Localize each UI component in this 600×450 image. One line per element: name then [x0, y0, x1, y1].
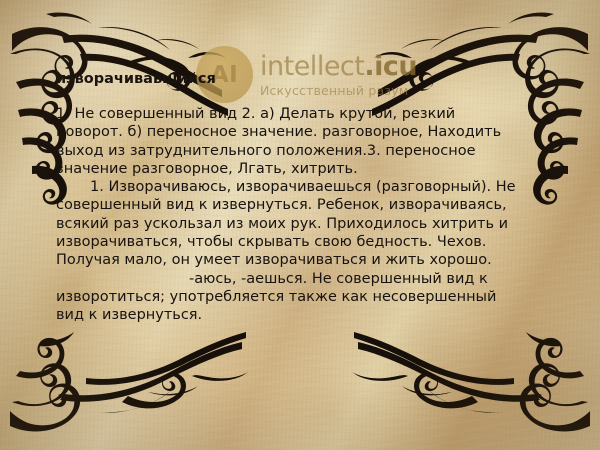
- parchment-page: AI intellect.icu Искусственный разум изв…: [0, 0, 600, 450]
- dictionary-article: изворачивавшийся 1. Не совершенный вид 2…: [56, 70, 526, 325]
- conjugation-paragraph: 1. Изворачиваюсь, изворачиваешься (разго…: [56, 178, 526, 269]
- headword: изворачивавшийся: [56, 70, 526, 88]
- corner-flourish-bottom-right-icon: [348, 326, 598, 446]
- forms-paragraph: -аюсь, -аешься. Не совершенный вид к изв…: [56, 270, 526, 325]
- corner-flourish-bottom-left-icon: [2, 326, 252, 446]
- forms-text: -аюсь, -аешься. Не совершенный вид к изв…: [56, 271, 496, 324]
- senses-paragraph: 1. Не совершенный вид 2. а) Делать круто…: [56, 105, 526, 178]
